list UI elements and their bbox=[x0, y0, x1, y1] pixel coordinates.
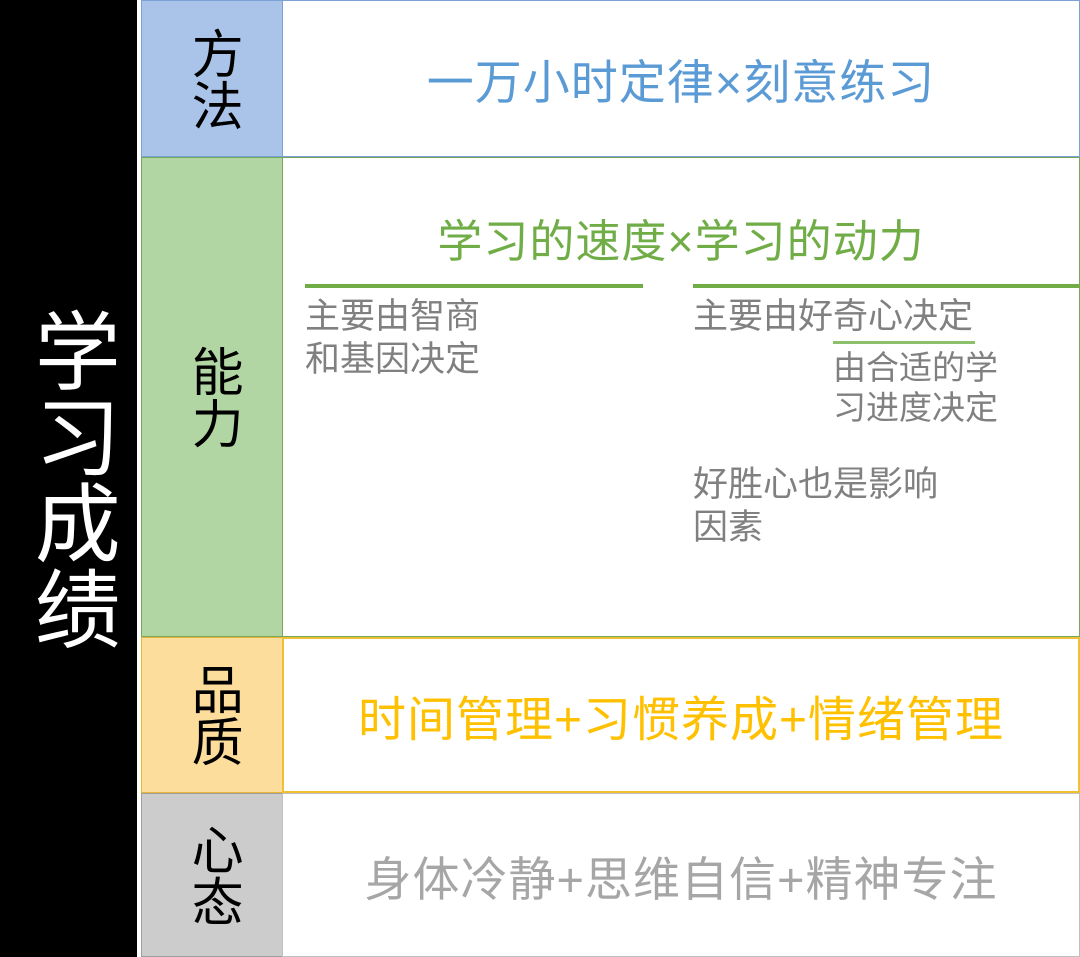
ability-left-detail: 主要由智商 和基因决定 bbox=[305, 296, 673, 381]
row-quality: 品质 时间管理+习惯养成+情绪管理 bbox=[141, 637, 1080, 793]
mindset-headline: 身体冷静+思维自信+精神专注 bbox=[365, 841, 998, 910]
row-label-ability-text: 能力 bbox=[182, 345, 242, 449]
row-label-mindset-text: 心态 bbox=[182, 823, 242, 927]
row-label-method-text: 方法 bbox=[182, 27, 242, 131]
row-body-quality: 时间管理+习惯养成+情绪管理 bbox=[282, 637, 1080, 793]
ability-right-detail: 主要由好奇心决定 bbox=[693, 296, 1078, 339]
row-label-quality: 品质 bbox=[141, 637, 282, 793]
divider-rule-left bbox=[305, 284, 643, 288]
divider-rule-sub bbox=[833, 341, 975, 344]
row-method: 方法 一万小时定律×刻意练习 bbox=[141, 0, 1080, 157]
row-label-method: 方法 bbox=[141, 0, 282, 157]
ability-column-right: 主要由好奇心决定 由合适的学 习进度决定 好胜心也是影响 因素 bbox=[673, 284, 1078, 550]
row-ability: 能力 学习的速度×学习的动力 主要由智商 和基因决定 主要由好奇心决定 由合适的… bbox=[141, 157, 1080, 637]
row-mindset: 心态 身体冷静+思维自信+精神专注 bbox=[141, 793, 1080, 957]
divider-rule-right bbox=[693, 284, 1080, 288]
quality-headline: 时间管理+习惯养成+情绪管理 bbox=[358, 680, 1004, 750]
vertical-title-bar: 学习成绩 bbox=[0, 0, 137, 957]
diagram-canvas: 学习成绩 方法 一万小时定律×刻意练习 能力 学习的速度×学习的动力 主要由智商… bbox=[0, 0, 1080, 957]
ability-right-extra-detail: 好胜心也是影响 因素 bbox=[693, 464, 1078, 549]
ability-headline: 学习的速度×学习的动力 bbox=[283, 205, 1079, 270]
row-body-ability: 学习的速度×学习的动力 主要由智商 和基因决定 主要由好奇心决定 由合适的学 习… bbox=[282, 157, 1080, 637]
ability-right-sub-detail: 由合适的学 习进度决定 bbox=[833, 348, 1078, 429]
row-label-ability: 能力 bbox=[141, 157, 282, 637]
ability-column-left: 主要由智商 和基因决定 bbox=[283, 284, 673, 550]
row-label-mindset: 心态 bbox=[141, 793, 282, 957]
row-label-quality-text: 品质 bbox=[182, 663, 242, 767]
vertical-title-text: 学习成绩 bbox=[18, 307, 119, 651]
method-headline: 一万小时定律×刻意练习 bbox=[427, 44, 935, 113]
row-body-method: 一万小时定律×刻意练习 bbox=[282, 0, 1080, 157]
ability-columns: 主要由智商 和基因决定 主要由好奇心决定 由合适的学 习进度决定 好胜心也是影响… bbox=[283, 284, 1079, 550]
row-body-mindset: 身体冷静+思维自信+精神专注 bbox=[282, 793, 1080, 957]
